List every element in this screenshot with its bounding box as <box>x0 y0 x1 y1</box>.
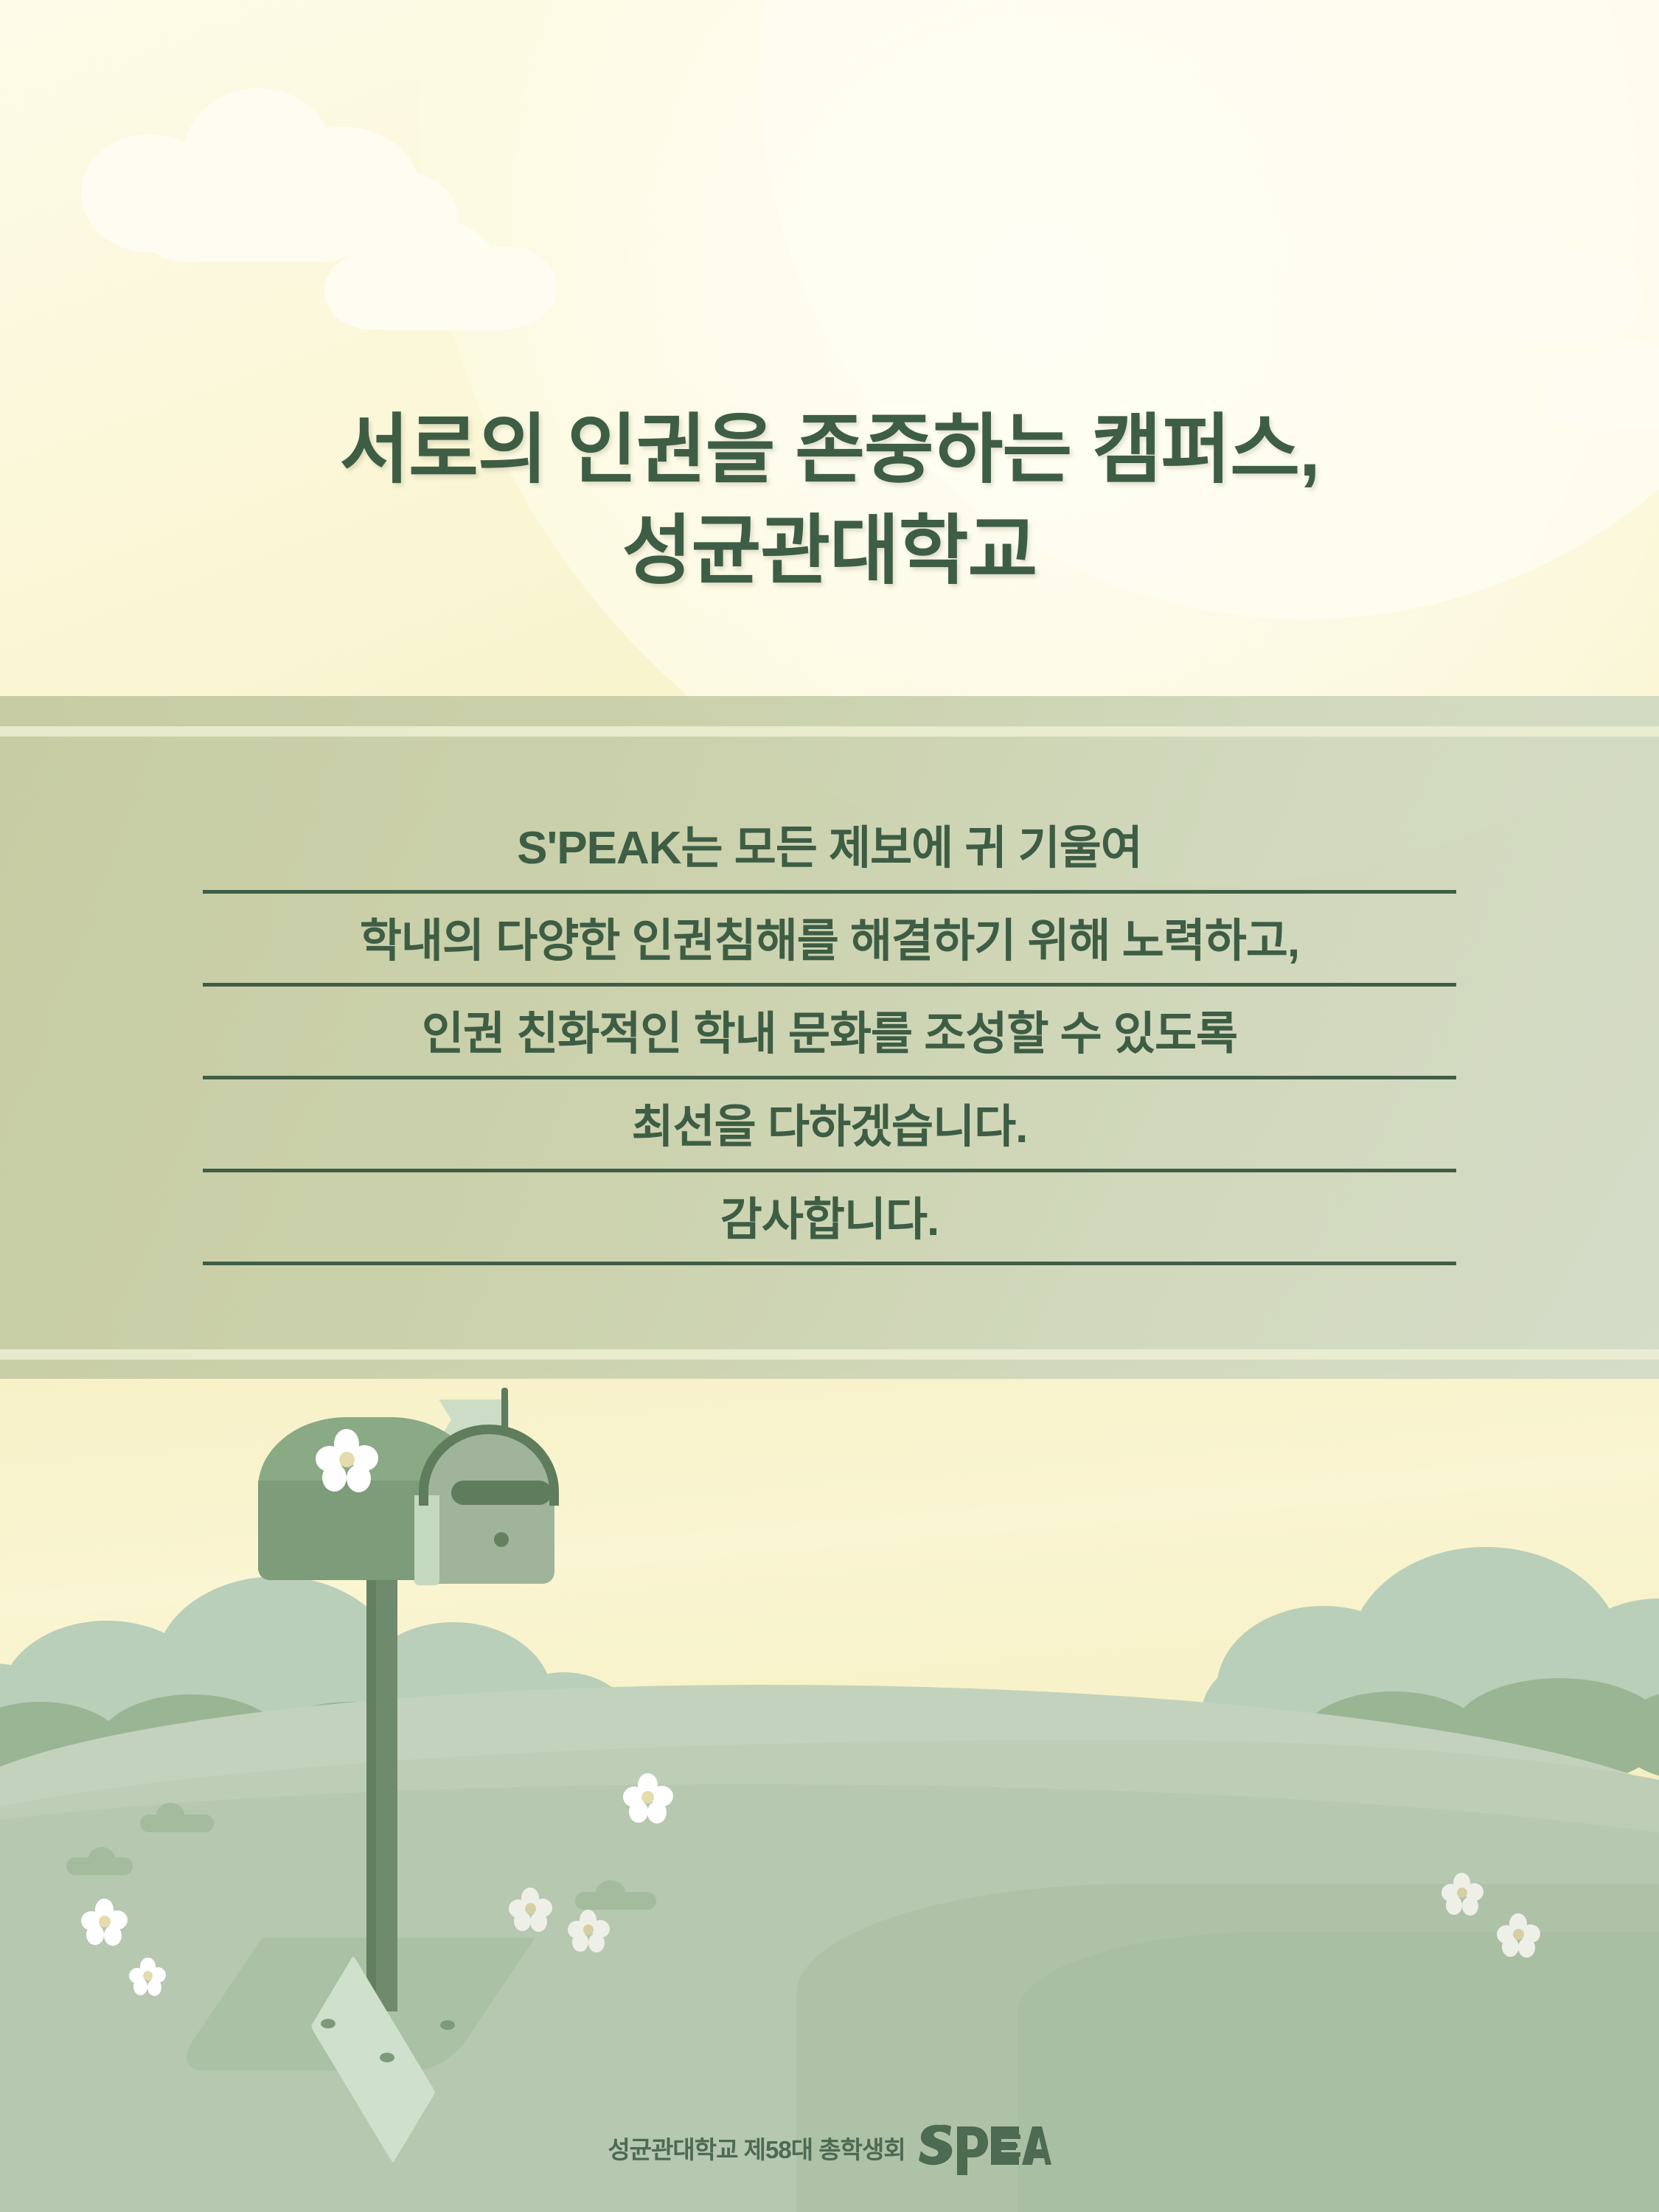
footer: 성균관대학교 제58대 총학생회 <box>0 2121 1659 2175</box>
flower-icon <box>623 1773 672 1822</box>
grass-tuft-icon <box>66 1847 133 1875</box>
mailbox-front-edge <box>414 1495 439 1585</box>
flower-icon <box>81 1899 127 1944</box>
message-line: 감사합니다. <box>0 1197 1659 1265</box>
mailbox-base-plate <box>276 1982 498 2100</box>
ground-background <box>0 1371 1659 2212</box>
title-line-1: 서로의 인권을 존중하는 캠퍼스, <box>0 400 1659 501</box>
message-line: 학내의 다양한 인권침해를 해결하기 위해 노력하고, <box>0 919 1659 987</box>
message-line: 최선을 다하겠습니다. <box>0 1105 1659 1172</box>
title-line-2: 성균관대학교 <box>0 501 1659 602</box>
poster-canvas: 서로의 인권을 존중하는 캠퍼스, 성균관대학교 <box>0 0 1659 2212</box>
grass-tuft-icon <box>140 1803 214 1832</box>
poster-title: 서로의 인권을 존중하는 캠퍼스, 성균관대학교 <box>0 400 1659 602</box>
mailbox-knob-icon <box>494 1532 509 1547</box>
mailbox-post-highlight <box>366 1540 376 2011</box>
message-line: 인권 친화적인 학내 문화를 조성할 수 있도록 <box>0 1012 1659 1079</box>
cloud-icon <box>1379 221 1652 339</box>
panel-stripe-top <box>0 726 1659 737</box>
message-line: S'PEAK는 모든 제보에 귀 기울여 <box>0 826 1659 894</box>
panel-stripe-bottom <box>0 1349 1659 1360</box>
flower-icon <box>316 1429 378 1491</box>
flower-icon <box>1441 1873 1483 1914</box>
mail-slot-icon <box>451 1481 552 1505</box>
footer-organization: 성균관대학교 제58대 총학생회 <box>608 2130 905 2166</box>
flower-icon <box>129 1958 166 1994</box>
message-text-block: S'PEAK는 모든 제보에 귀 기울여 학내의 다양한 인권침해를 해결하기 … <box>0 826 1659 1290</box>
mailbox-body <box>258 1392 575 1576</box>
speak-logo-icon <box>919 2121 1051 2175</box>
flower-icon <box>1497 1913 1540 1956</box>
cloud-icon <box>324 221 568 328</box>
mailbox-illustration <box>262 1392 579 2129</box>
grass-tuft-icon <box>575 1880 656 1910</box>
